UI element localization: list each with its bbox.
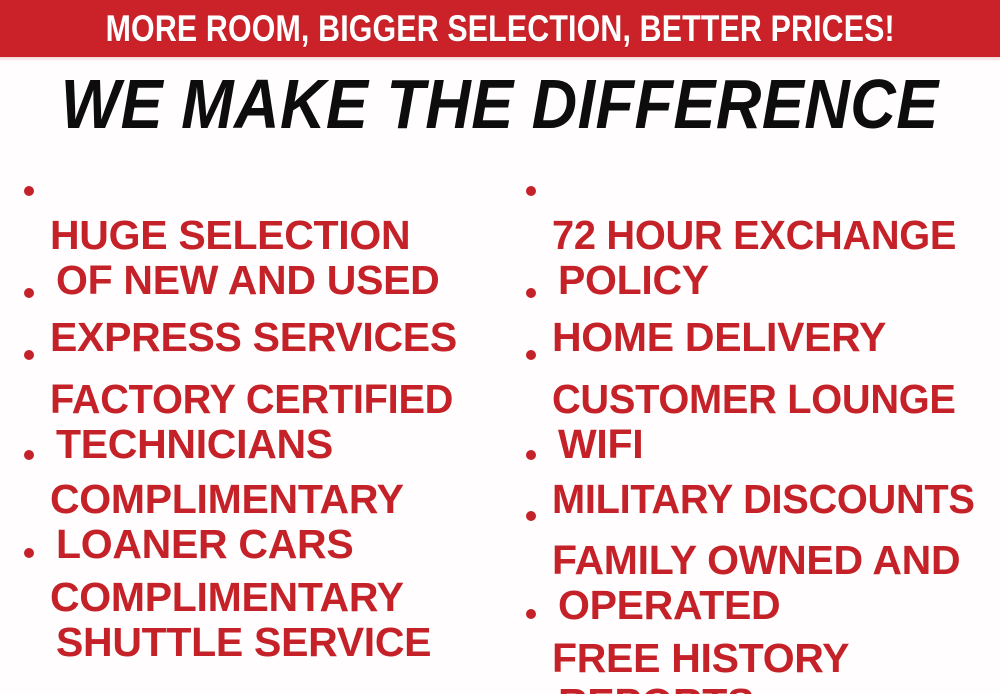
banner-headline-text: MORE ROOM, BIGGER SELECTION, BETTER PRIC… [105,10,894,47]
main-headline: WE MAKE THE DIFFERENCE [0,68,1000,140]
benefits-columns: HUGE SELECTION OF NEW AND USED EXPRESS S… [0,160,1000,694]
bullet-line-1: COMPLIMENTARY [50,574,404,620]
top-banner: MORE ROOM, BIGGER SELECTION, BETTER PRIC… [0,0,1000,57]
bullet-line-1: COMPLIMENTARY [50,476,404,522]
bullet-line-1: FACTORY CERTIFIED [50,377,453,422]
list-item: COMPLIMENTARY SHUTTLE SERVICE [18,530,431,694]
list-item: FREE HISTORY REPORTS [520,591,849,694]
bullet-line-1: FAMILY OWNED AND [552,537,960,583]
bullet-line-2: REPORTS [552,681,849,694]
main-headline-text: WE MAKE THE DIFFERENCE [61,69,939,139]
bullet-line-1: FREE HISTORY [552,635,849,681]
banner-underline-divider [0,57,1000,61]
bullet-line-1: 72 HOUR EXCHANGE [552,213,956,258]
benefits-column-right: 72 HOUR EXCHANGE POLICY HOME DELIVERY CU… [520,160,1000,694]
bullet-line-2: SHUTTLE SERVICE [50,620,431,665]
bullet-line-1: HUGE SELECTION [50,212,410,258]
benefits-column-left: HUGE SELECTION OF NEW AND USED EXPRESS S… [18,160,498,694]
bullet-line-1: CUSTOMER LOUNGE [552,377,956,422]
promotional-poster: MORE ROOM, BIGGER SELECTION, BETTER PRIC… [0,0,1000,694]
